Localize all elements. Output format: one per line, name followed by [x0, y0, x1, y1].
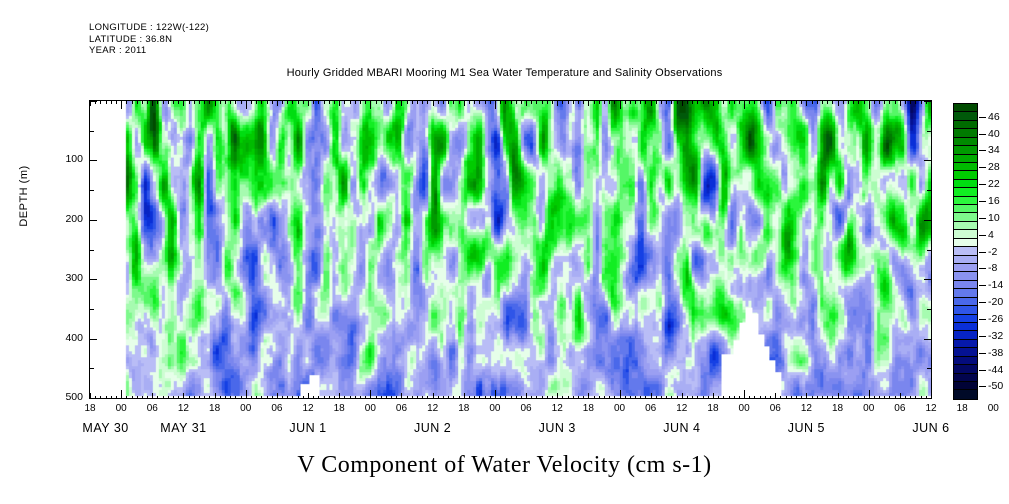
x-tick-top	[651, 100, 652, 106]
x-tick-top	[526, 100, 527, 106]
x-tick	[308, 393, 309, 399]
x-tick-top	[858, 100, 859, 104]
colorbar-band	[954, 155, 977, 163]
y-tick-right	[927, 131, 932, 132]
x-tick	[168, 396, 169, 400]
x-tick-top	[760, 100, 761, 104]
x-tick-top	[329, 100, 330, 104]
x-tick	[568, 396, 569, 400]
x-tick	[157, 396, 158, 400]
x-tick-top	[614, 100, 615, 104]
x-tick	[874, 396, 875, 400]
x-tick-top	[303, 100, 304, 104]
x-tick-top	[505, 100, 506, 104]
x-tick	[921, 396, 922, 400]
colorbar-band	[954, 390, 977, 398]
x-tick-top	[137, 100, 138, 104]
x-tick	[427, 396, 428, 400]
x-tick	[713, 393, 714, 399]
x-tick-top	[282, 100, 283, 104]
x-tick-top	[272, 100, 273, 104]
colorbar-band	[954, 112, 977, 120]
x-tick-top	[853, 100, 854, 104]
colorbar-band	[954, 129, 977, 137]
figure-caption: V Component of Water Velocity (cm s-1)	[0, 452, 1009, 479]
x-tick-top	[754, 100, 755, 104]
y-tick-right	[927, 368, 932, 369]
x-tick-top	[163, 100, 164, 104]
x-tick	[542, 396, 543, 400]
x-tick	[329, 396, 330, 400]
x-tick	[142, 396, 143, 400]
x-tick	[407, 396, 408, 400]
x-tick-top	[895, 100, 896, 104]
x-tick	[126, 396, 127, 400]
x-tick	[905, 396, 906, 400]
x-tick-top	[775, 100, 776, 106]
x-tick-top	[168, 100, 169, 104]
colorbar-band	[954, 272, 977, 280]
x-tick	[583, 396, 584, 400]
x-tick	[656, 396, 657, 400]
x-tick-top	[640, 100, 641, 104]
x-tick-top	[620, 100, 621, 109]
y-tick	[89, 250, 94, 251]
x-tick	[464, 393, 465, 399]
x-tick-top	[516, 100, 517, 104]
x-tick-top	[121, 100, 122, 109]
colorbar-tick-label: 22	[988, 178, 1000, 190]
x-tick-top	[287, 100, 288, 104]
x-date-label: JUN 4	[632, 421, 732, 435]
x-tick	[697, 396, 698, 400]
x-tick-top	[438, 100, 439, 104]
x-tick-top	[100, 100, 101, 104]
x-tick-top	[376, 100, 377, 104]
x-tick	[765, 396, 766, 400]
colorbar-band	[954, 138, 977, 146]
x-tick	[666, 396, 667, 400]
x-tick	[729, 396, 730, 400]
x-tick	[630, 396, 631, 400]
x-tick	[775, 393, 776, 399]
y-tick-right	[924, 339, 932, 340]
x-tick-top	[625, 100, 626, 104]
y-tick	[89, 309, 94, 310]
x-tick-top	[443, 100, 444, 104]
x-tick	[599, 396, 600, 400]
x-tick	[287, 396, 288, 400]
colorbar-tick-label: -26	[988, 313, 1003, 325]
y-tick-right	[924, 279, 932, 280]
x-tick	[381, 396, 382, 400]
x-tick	[853, 396, 854, 400]
x-tick-top	[801, 100, 802, 104]
y-tick	[89, 339, 97, 340]
colorbar-tick-label: 16	[988, 195, 1000, 207]
x-tick	[562, 396, 563, 400]
x-tick	[209, 396, 210, 400]
colorbar-tick	[979, 353, 986, 354]
x-tick-top	[817, 100, 818, 104]
x-tick-top	[126, 100, 127, 104]
x-tick-top	[386, 100, 387, 104]
x-tick-top	[573, 100, 574, 104]
x-tick	[204, 396, 205, 400]
x-tick-top	[552, 100, 553, 104]
x-tick-top	[448, 100, 449, 104]
x-date-label: JUN 3	[507, 421, 607, 435]
x-tick-top	[915, 100, 916, 104]
y-tick-label: 400	[41, 332, 83, 344]
x-tick-top	[277, 100, 278, 106]
x-tick	[578, 396, 579, 400]
y-tick-right	[924, 398, 932, 399]
x-tick	[235, 396, 236, 400]
x-tick	[801, 396, 802, 400]
x-tick-top	[599, 100, 600, 104]
x-tick-top	[178, 100, 179, 104]
colorbar-tick	[979, 336, 986, 337]
x-tick	[573, 396, 574, 400]
y-tick	[89, 131, 94, 132]
x-tick	[365, 396, 366, 400]
x-tick-top	[910, 100, 911, 104]
x-tick	[490, 396, 491, 400]
colorbar-tick	[979, 184, 986, 185]
x-tick	[189, 396, 190, 400]
x-tick	[625, 396, 626, 400]
x-tick-top	[822, 100, 823, 104]
x-tick-top	[106, 100, 107, 104]
x-tick-top	[292, 100, 293, 104]
x-tick	[453, 396, 454, 400]
x-tick	[360, 396, 361, 400]
x-tick	[116, 396, 117, 400]
x-tick	[448, 396, 449, 400]
x-tick	[552, 396, 553, 400]
x-tick	[827, 396, 828, 400]
x-tick	[282, 396, 283, 400]
x-tick	[671, 396, 672, 400]
x-tick	[438, 396, 439, 400]
y-tick-right	[927, 309, 932, 310]
x-tick	[645, 396, 646, 400]
x-tick-top	[666, 100, 667, 104]
x-tick	[230, 396, 231, 400]
x-tick-top	[313, 100, 314, 104]
x-tick	[604, 396, 605, 400]
colorbar-tick-label: 40	[988, 128, 1000, 140]
colorbar-band	[954, 213, 977, 221]
x-tick	[344, 396, 345, 400]
x-tick	[620, 390, 621, 399]
x-tick-top	[791, 100, 792, 104]
x-tick-top	[173, 100, 174, 104]
x-tick	[370, 390, 371, 399]
colorbar-tick	[979, 386, 986, 387]
year-label: YEAR : 2011	[89, 45, 209, 57]
colorbar-tick-label: -14	[988, 279, 1003, 291]
x-tick-top	[604, 100, 605, 104]
x-tick-top	[204, 100, 205, 104]
metadata-block: LONGITUDE : 122W(-122) LATITUDE : 36.8N …	[89, 22, 209, 57]
x-tick-top	[869, 100, 870, 109]
x-tick	[334, 396, 335, 400]
x-tick	[739, 396, 740, 400]
y-tick	[89, 101, 97, 102]
x-tick	[292, 396, 293, 400]
x-tick-top	[921, 100, 922, 104]
x-tick-top	[152, 100, 153, 106]
x-tick	[303, 396, 304, 400]
y-axis-title: DEPTH (m)	[18, 165, 30, 226]
x-tick	[121, 390, 122, 399]
x-tick-top	[682, 100, 683, 106]
x-tick-top	[609, 100, 610, 104]
x-tick-top	[889, 100, 890, 104]
x-tick-top	[334, 100, 335, 104]
x-tick-top	[298, 100, 299, 104]
x-tick-top	[531, 100, 532, 104]
colorbar-tick	[979, 150, 986, 151]
x-tick	[194, 396, 195, 400]
colorbar-tick	[979, 370, 986, 371]
x-tick-top	[884, 100, 885, 104]
x-tick-top	[417, 100, 418, 104]
x-tick	[422, 396, 423, 400]
x-tick-top	[230, 100, 231, 104]
x-tick-top	[500, 100, 501, 104]
x-tick-top	[734, 100, 735, 104]
x-tick-top	[474, 100, 475, 104]
x-tick-top	[838, 100, 839, 106]
x-tick	[609, 396, 610, 400]
x-tick	[723, 396, 724, 400]
x-tick	[318, 396, 319, 400]
x-tick-top	[215, 100, 216, 106]
x-tick-top	[703, 100, 704, 104]
x-tick	[677, 396, 678, 400]
colorbar-band	[954, 357, 977, 365]
x-tick	[651, 393, 652, 399]
colorbar-tick	[979, 167, 986, 168]
x-tick-top	[744, 100, 745, 109]
x-tick-top	[381, 100, 382, 104]
x-tick-top	[848, 100, 849, 104]
x-tick	[744, 390, 745, 399]
x-tick	[635, 396, 636, 400]
x-tick	[173, 396, 174, 400]
x-tick	[376, 396, 377, 400]
x-date-label: JUN 5	[756, 421, 856, 435]
x-tick-top	[350, 100, 351, 104]
x-tick-top	[490, 100, 491, 104]
x-tick	[459, 396, 460, 400]
x-tick	[687, 396, 688, 400]
x-tick	[313, 396, 314, 400]
colorbar-tick-label: 28	[988, 161, 1000, 173]
x-tick	[822, 396, 823, 400]
x-tick-top	[453, 100, 454, 104]
x-tick-top	[723, 100, 724, 104]
x-tick-top	[246, 100, 247, 109]
y-tick	[89, 190, 94, 191]
x-tick-top	[806, 100, 807, 106]
x-tick-top	[874, 100, 875, 104]
x-tick	[692, 396, 693, 400]
x-tick-top	[241, 100, 242, 104]
x-tick-top	[261, 100, 262, 104]
x-tick	[215, 393, 216, 399]
x-tick-top	[251, 100, 252, 104]
x-tick	[241, 396, 242, 400]
colorbar	[953, 103, 978, 400]
x-tick	[178, 396, 179, 400]
x-tick	[832, 396, 833, 400]
x-tick-top	[879, 100, 880, 104]
x-tick-top	[780, 100, 781, 104]
x-tick	[251, 396, 252, 400]
x-tick	[386, 396, 387, 400]
x-tick	[760, 396, 761, 400]
x-tick-top	[370, 100, 371, 109]
x-tick	[246, 390, 247, 399]
x-date-label: JUN 1	[258, 421, 358, 435]
x-tick	[183, 393, 184, 399]
x-tick	[412, 396, 413, 400]
colorbar-band	[954, 374, 977, 382]
colorbar-tick	[979, 117, 986, 118]
x-tick-top	[697, 100, 698, 104]
x-tick-top	[391, 100, 392, 104]
y-tick	[89, 279, 97, 280]
y-tick	[89, 398, 97, 399]
colorbar-tick	[979, 285, 986, 286]
y-tick-right	[927, 190, 932, 191]
x-tick	[791, 396, 792, 400]
colorbar-band	[954, 281, 977, 289]
x-tick	[495, 390, 496, 399]
colorbar-band	[954, 264, 977, 272]
x-tick	[152, 393, 153, 399]
x-tick-top	[308, 100, 309, 106]
x-tick-top	[235, 100, 236, 104]
x-tick-top	[209, 100, 210, 104]
y-tick-right	[924, 101, 932, 102]
x-tick-top	[713, 100, 714, 106]
x-tick-top	[718, 100, 719, 104]
x-tick-top	[656, 100, 657, 104]
colorbar-band	[954, 163, 977, 171]
colorbar-band	[954, 239, 977, 247]
page-title: Hourly Gridded MBARI Mooring M1 Sea Wate…	[0, 67, 1009, 79]
x-tick-top	[344, 100, 345, 104]
x-tick-top	[729, 100, 730, 104]
x-tick	[401, 393, 402, 399]
y-tick	[89, 220, 97, 221]
x-tick-top	[739, 100, 740, 104]
x-tick-top	[843, 100, 844, 104]
x-tick-top	[864, 100, 865, 104]
x-tick-top	[401, 100, 402, 106]
colorbar-tick-label: 34	[988, 144, 1000, 156]
x-tick-top	[578, 100, 579, 104]
colorbar-band	[954, 188, 977, 196]
x-tick	[749, 396, 750, 400]
x-tick-top	[157, 100, 158, 104]
x-tick	[111, 396, 112, 400]
x-tick-top	[630, 100, 631, 104]
x-tick	[614, 396, 615, 400]
x-tick	[770, 396, 771, 400]
x-tick-top	[360, 100, 361, 104]
x-tick-top	[396, 100, 397, 104]
x-tick	[661, 396, 662, 400]
x-tick	[817, 396, 818, 400]
x-tick-top	[708, 100, 709, 104]
colorbar-band	[954, 382, 977, 390]
y-tick-label: 200	[41, 213, 83, 225]
x-tick	[879, 396, 880, 400]
x-tick	[500, 396, 501, 400]
colorbar-band	[954, 197, 977, 205]
x-tick	[895, 396, 896, 400]
x-date-label: JUN 2	[383, 421, 483, 435]
x-tick	[796, 396, 797, 400]
y-tick-label: 500	[41, 391, 83, 403]
colorbar-band	[954, 315, 977, 323]
x-tick-top	[355, 100, 356, 104]
x-tick	[848, 396, 849, 400]
colorbar-band	[954, 256, 977, 264]
colorbar-tick-label: -50	[988, 380, 1003, 392]
colorbar-tick	[979, 252, 986, 253]
x-tick-top	[900, 100, 901, 106]
x-tick-top	[588, 100, 589, 106]
x-tick	[718, 396, 719, 400]
x-tick	[843, 396, 844, 400]
x-tick	[864, 396, 865, 400]
x-tick	[547, 396, 548, 400]
x-tick	[256, 396, 257, 400]
x-tick	[137, 396, 138, 400]
x-tick-top	[796, 100, 797, 104]
colorbar-band	[954, 121, 977, 129]
x-tick	[910, 396, 911, 400]
colorbar-tick-label: -38	[988, 347, 1003, 359]
colorbar-tick	[979, 319, 986, 320]
x-tick	[443, 396, 444, 400]
x-tick	[511, 396, 512, 400]
x-tick-top	[832, 100, 833, 104]
x-tick	[106, 396, 107, 400]
y-tick-right	[927, 250, 932, 251]
x-tick	[474, 396, 475, 400]
colorbar-tick-label: -8	[988, 262, 997, 274]
x-tick-top	[536, 100, 537, 104]
x-tick	[199, 396, 200, 400]
x-tick	[417, 396, 418, 400]
colorbar-band	[954, 331, 977, 339]
y-tick-label: 100	[41, 153, 83, 165]
x-tick-top	[547, 100, 548, 104]
x-tick	[469, 396, 470, 400]
x-tick	[889, 396, 890, 400]
x-tick	[261, 396, 262, 400]
x-tick	[703, 396, 704, 400]
y-tick	[89, 368, 94, 369]
